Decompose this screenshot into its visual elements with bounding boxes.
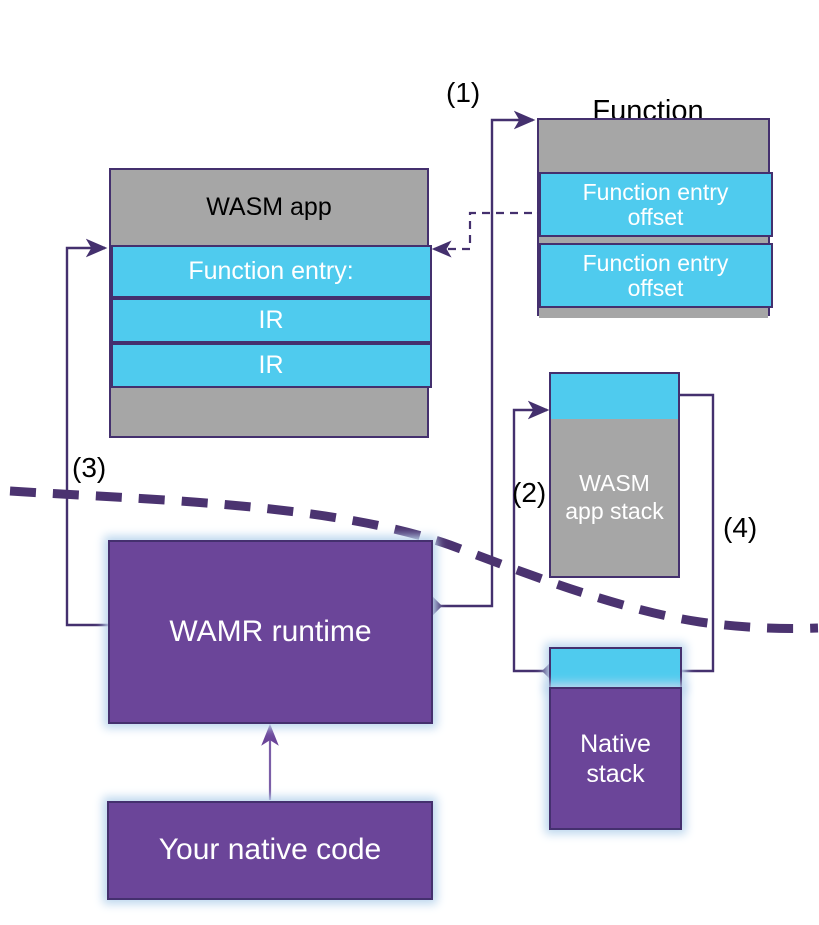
wasm-app-row-label: IR [259, 352, 284, 379]
function-index-table-entry-line2: offset [628, 276, 684, 300]
wasm-app-title: WASM app [206, 194, 332, 221]
step-1-label: (1) [446, 77, 480, 109]
wasm-app-row-label: IR [259, 307, 284, 334]
function-index-table-entry-line1: Function entry [583, 251, 729, 275]
function-index-table-entry-line2: offset [628, 205, 684, 229]
wasm-app-stack-body: WASM app stack [551, 419, 678, 576]
native-stack-block: Native stack [549, 687, 682, 830]
wasm-app-row-ir-2: IR [111, 343, 432, 388]
function-index-table-row-empty-top [539, 120, 768, 172]
wasm-app-row-label: Function entry: [188, 258, 353, 285]
wamr-runtime-block: WAMR runtime [108, 540, 433, 724]
diagram-canvas: WASM app Function entry: IR IR Function … [0, 0, 819, 925]
your-native-code-label: Your native code [159, 834, 381, 866]
function-index-table-entry-line1: Function entry [583, 180, 729, 204]
wasm-app-row-function-entry: Function entry: [111, 245, 432, 298]
wasm-app-stack-line2: app stack [565, 498, 663, 526]
connector-3-wamr-to-wasm-app [67, 248, 108, 625]
function-index-table-entry-2: Function entry offset [539, 243, 773, 308]
function-index-table-row-empty-bottom [539, 308, 768, 318]
wasm-app-stack-line1: WASM [579, 470, 650, 498]
wasm-app-block: WASM app Function entry: IR IR [109, 168, 429, 438]
wasm-app-row-empty-bottom [111, 388, 427, 435]
wasm-app-title-row: WASM app [111, 170, 427, 245]
wasm-app-stack-block: WASM app stack [549, 372, 680, 578]
native-stack-line1: Native [580, 729, 651, 759]
step-2-label: (2) [512, 477, 546, 509]
your-native-code-block: Your native code [107, 801, 433, 900]
function-index-table-block: Function entry offset Function entry off… [537, 118, 770, 316]
wamr-runtime-label: WAMR runtime [169, 616, 371, 648]
connector-2-native-stack-to-wasm-app-stack [514, 410, 552, 671]
native-stack-line2: stack [586, 759, 644, 789]
wasm-app-stack-top-cyan [551, 374, 678, 419]
native-stack-top-cyan [549, 647, 682, 689]
step-4-label: (4) [723, 512, 757, 544]
step-3-label: (3) [72, 452, 106, 484]
function-index-table-entry-1: Function entry offset [539, 172, 773, 237]
connector-1-wamr-to-index-table [432, 120, 533, 606]
wasm-app-row-ir-1: IR [111, 298, 432, 343]
